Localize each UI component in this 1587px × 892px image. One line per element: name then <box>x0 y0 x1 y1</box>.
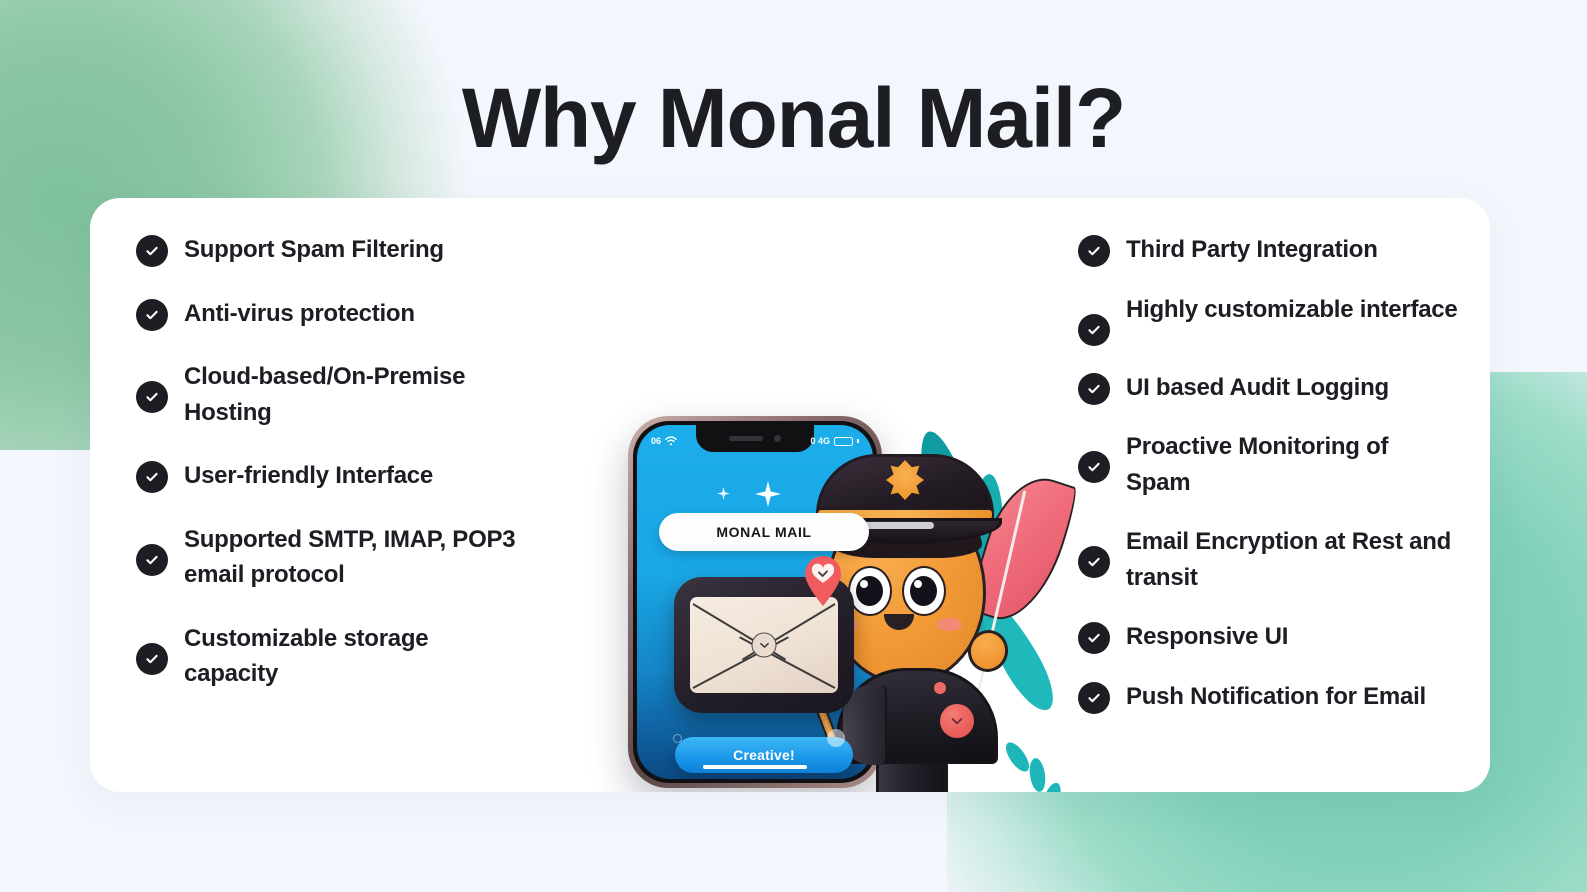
battery-icon <box>834 437 853 446</box>
poster-canvas: Why Monal Mail? Support Spam Filtering A… <box>0 0 1587 892</box>
check-circle-icon <box>136 381 168 413</box>
list-item-label: Proactive Monitoring of Spam <box>1126 429 1458 500</box>
list-item[interactable]: Support Spam Filtering <box>136 232 526 268</box>
list-item[interactable]: Highly customizable interface <box>1078 292 1458 346</box>
list-item-label: Third Party Integration <box>1126 232 1378 268</box>
battery-tip-icon <box>857 439 859 443</box>
check-circle-icon <box>136 461 168 493</box>
list-item[interactable]: Supported SMTP, IMAP, POP3 email protoco… <box>136 522 526 593</box>
list-item-label: Anti-virus protection <box>184 296 415 332</box>
list-item-label: User-friendly Interface <box>184 458 433 494</box>
feature-column-right: Third Party Integration Highly customiza… <box>1078 232 1458 738</box>
list-item[interactable]: Third Party Integration <box>1078 232 1458 268</box>
list-item[interactable]: Anti-virus protection <box>136 296 526 332</box>
mascot-pupil-shine <box>914 580 922 588</box>
list-item-label: Push Notification for Email <box>1126 679 1426 715</box>
home-indicator[interactable] <box>703 765 807 769</box>
mail-card[interactable] <box>674 577 854 713</box>
list-item-label: Supported SMTP, IMAP, POP3 email protoco… <box>184 522 526 593</box>
flashlight-icon[interactable] <box>673 734 682 743</box>
heart-pin-icon <box>802 555 844 607</box>
list-item-label: Cloud-based/On-Premise Hosting <box>184 359 526 430</box>
list-item[interactable]: Proactive Monitoring of Spam <box>1078 429 1458 500</box>
check-circle-icon <box>136 643 168 675</box>
check-circle-icon <box>136 299 168 331</box>
cap-emblem-icon <box>886 460 924 500</box>
check-circle-icon <box>1078 235 1110 267</box>
list-item-label: UI based Audit Logging <box>1126 370 1389 406</box>
mascot-pupil-shine <box>860 580 868 588</box>
mailbox-knob-icon <box>940 704 974 738</box>
mascot-cheek <box>936 618 962 631</box>
list-item[interactable]: Responsive UI <box>1078 619 1458 655</box>
mailbox-post <box>876 760 948 792</box>
envelope-seal-icon <box>752 633 777 658</box>
mailbox-icon <box>836 668 1026 792</box>
feature-column-left: Support Spam Filtering Anti-virus protec… <box>136 232 526 720</box>
status-left: 06 <box>651 436 677 446</box>
list-item-label: Customizable storage capacity <box>184 621 526 692</box>
list-item-label: Responsive UI <box>1126 619 1288 655</box>
sparkle-icon <box>755 481 781 507</box>
check-circle-icon <box>136 235 168 267</box>
camera-shortcut-icon[interactable] <box>827 729 845 747</box>
list-item-label: Support Spam Filtering <box>184 232 444 268</box>
list-item-label: Email Encryption at Rest and transit <box>1126 524 1458 595</box>
status-network: 0 4G <box>810 436 830 446</box>
list-item[interactable]: Cloud-based/On-Premise Hosting <box>136 359 526 430</box>
feature-card: Support Spam Filtering Anti-virus protec… <box>90 198 1490 792</box>
list-item[interactable]: User-friendly Interface <box>136 458 526 494</box>
status-bar: 06 0 4G <box>637 433 873 449</box>
list-item[interactable]: Email Encryption at Rest and transit <box>1078 524 1458 595</box>
list-item[interactable]: Push Notification for Email <box>1078 679 1458 715</box>
envelope-icon <box>690 597 838 693</box>
brand-pill-button[interactable]: MONAL MAIL <box>659 513 869 551</box>
check-circle-icon <box>136 544 168 576</box>
hero-illustration: 06 0 4G <box>540 288 1100 792</box>
list-item[interactable]: UI based Audit Logging <box>1078 370 1458 406</box>
mailbox-body <box>836 668 998 764</box>
mailbox-stud <box>934 682 946 694</box>
status-time: 06 <box>651 436 661 446</box>
status-right: 0 4G <box>810 436 859 446</box>
list-item[interactable]: Customizable storage capacity <box>136 621 526 692</box>
sparkle-icon <box>717 487 730 500</box>
page-title: Why Monal Mail? <box>0 74 1587 162</box>
wifi-icon <box>665 436 677 446</box>
list-item-label: Highly customizable interface <box>1126 292 1458 328</box>
